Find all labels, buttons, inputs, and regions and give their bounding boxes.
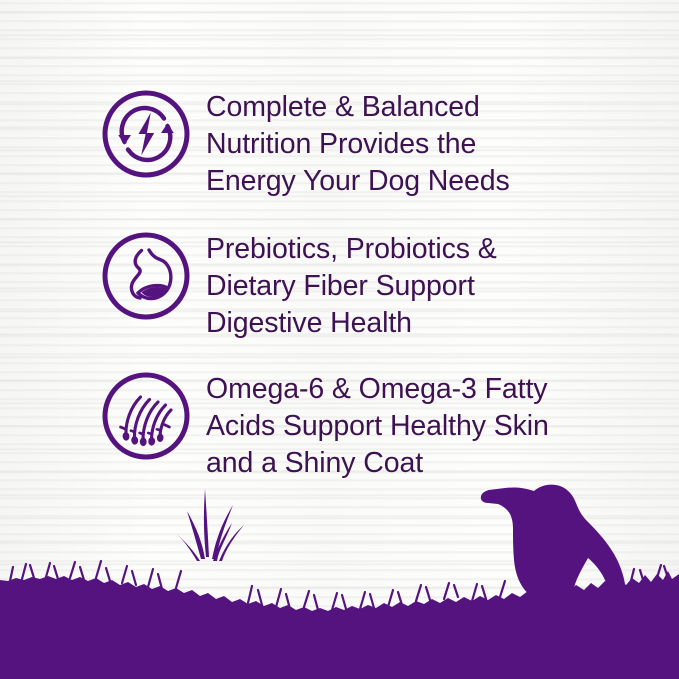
energy-cycle-icon (100, 88, 192, 180)
tall-grass-tuft (176, 489, 244, 561)
stomach-digestion-icon (100, 230, 192, 322)
feature-text: Prebiotics, Probiotics & Dietary Fiber S… (206, 230, 497, 342)
feature-item: Omega-6 & Omega-3 Fatty Acids Support He… (100, 370, 549, 482)
feature-text: Omega-6 & Omega-3 Fatty Acids Support He… (206, 370, 549, 482)
feature-item: Prebiotics, Probiotics & Dietary Fiber S… (100, 230, 497, 342)
product-feature-panel: Complete & Balanced Nutrition Provides t… (0, 0, 679, 679)
grass-hill-silhouette (0, 561, 679, 679)
hair-follicle-coat-icon (100, 370, 192, 462)
feature-text: Complete & Balanced Nutrition Provides t… (206, 88, 510, 200)
bottom-scene (0, 479, 679, 679)
feature-item: Complete & Balanced Nutrition Provides t… (100, 88, 510, 200)
